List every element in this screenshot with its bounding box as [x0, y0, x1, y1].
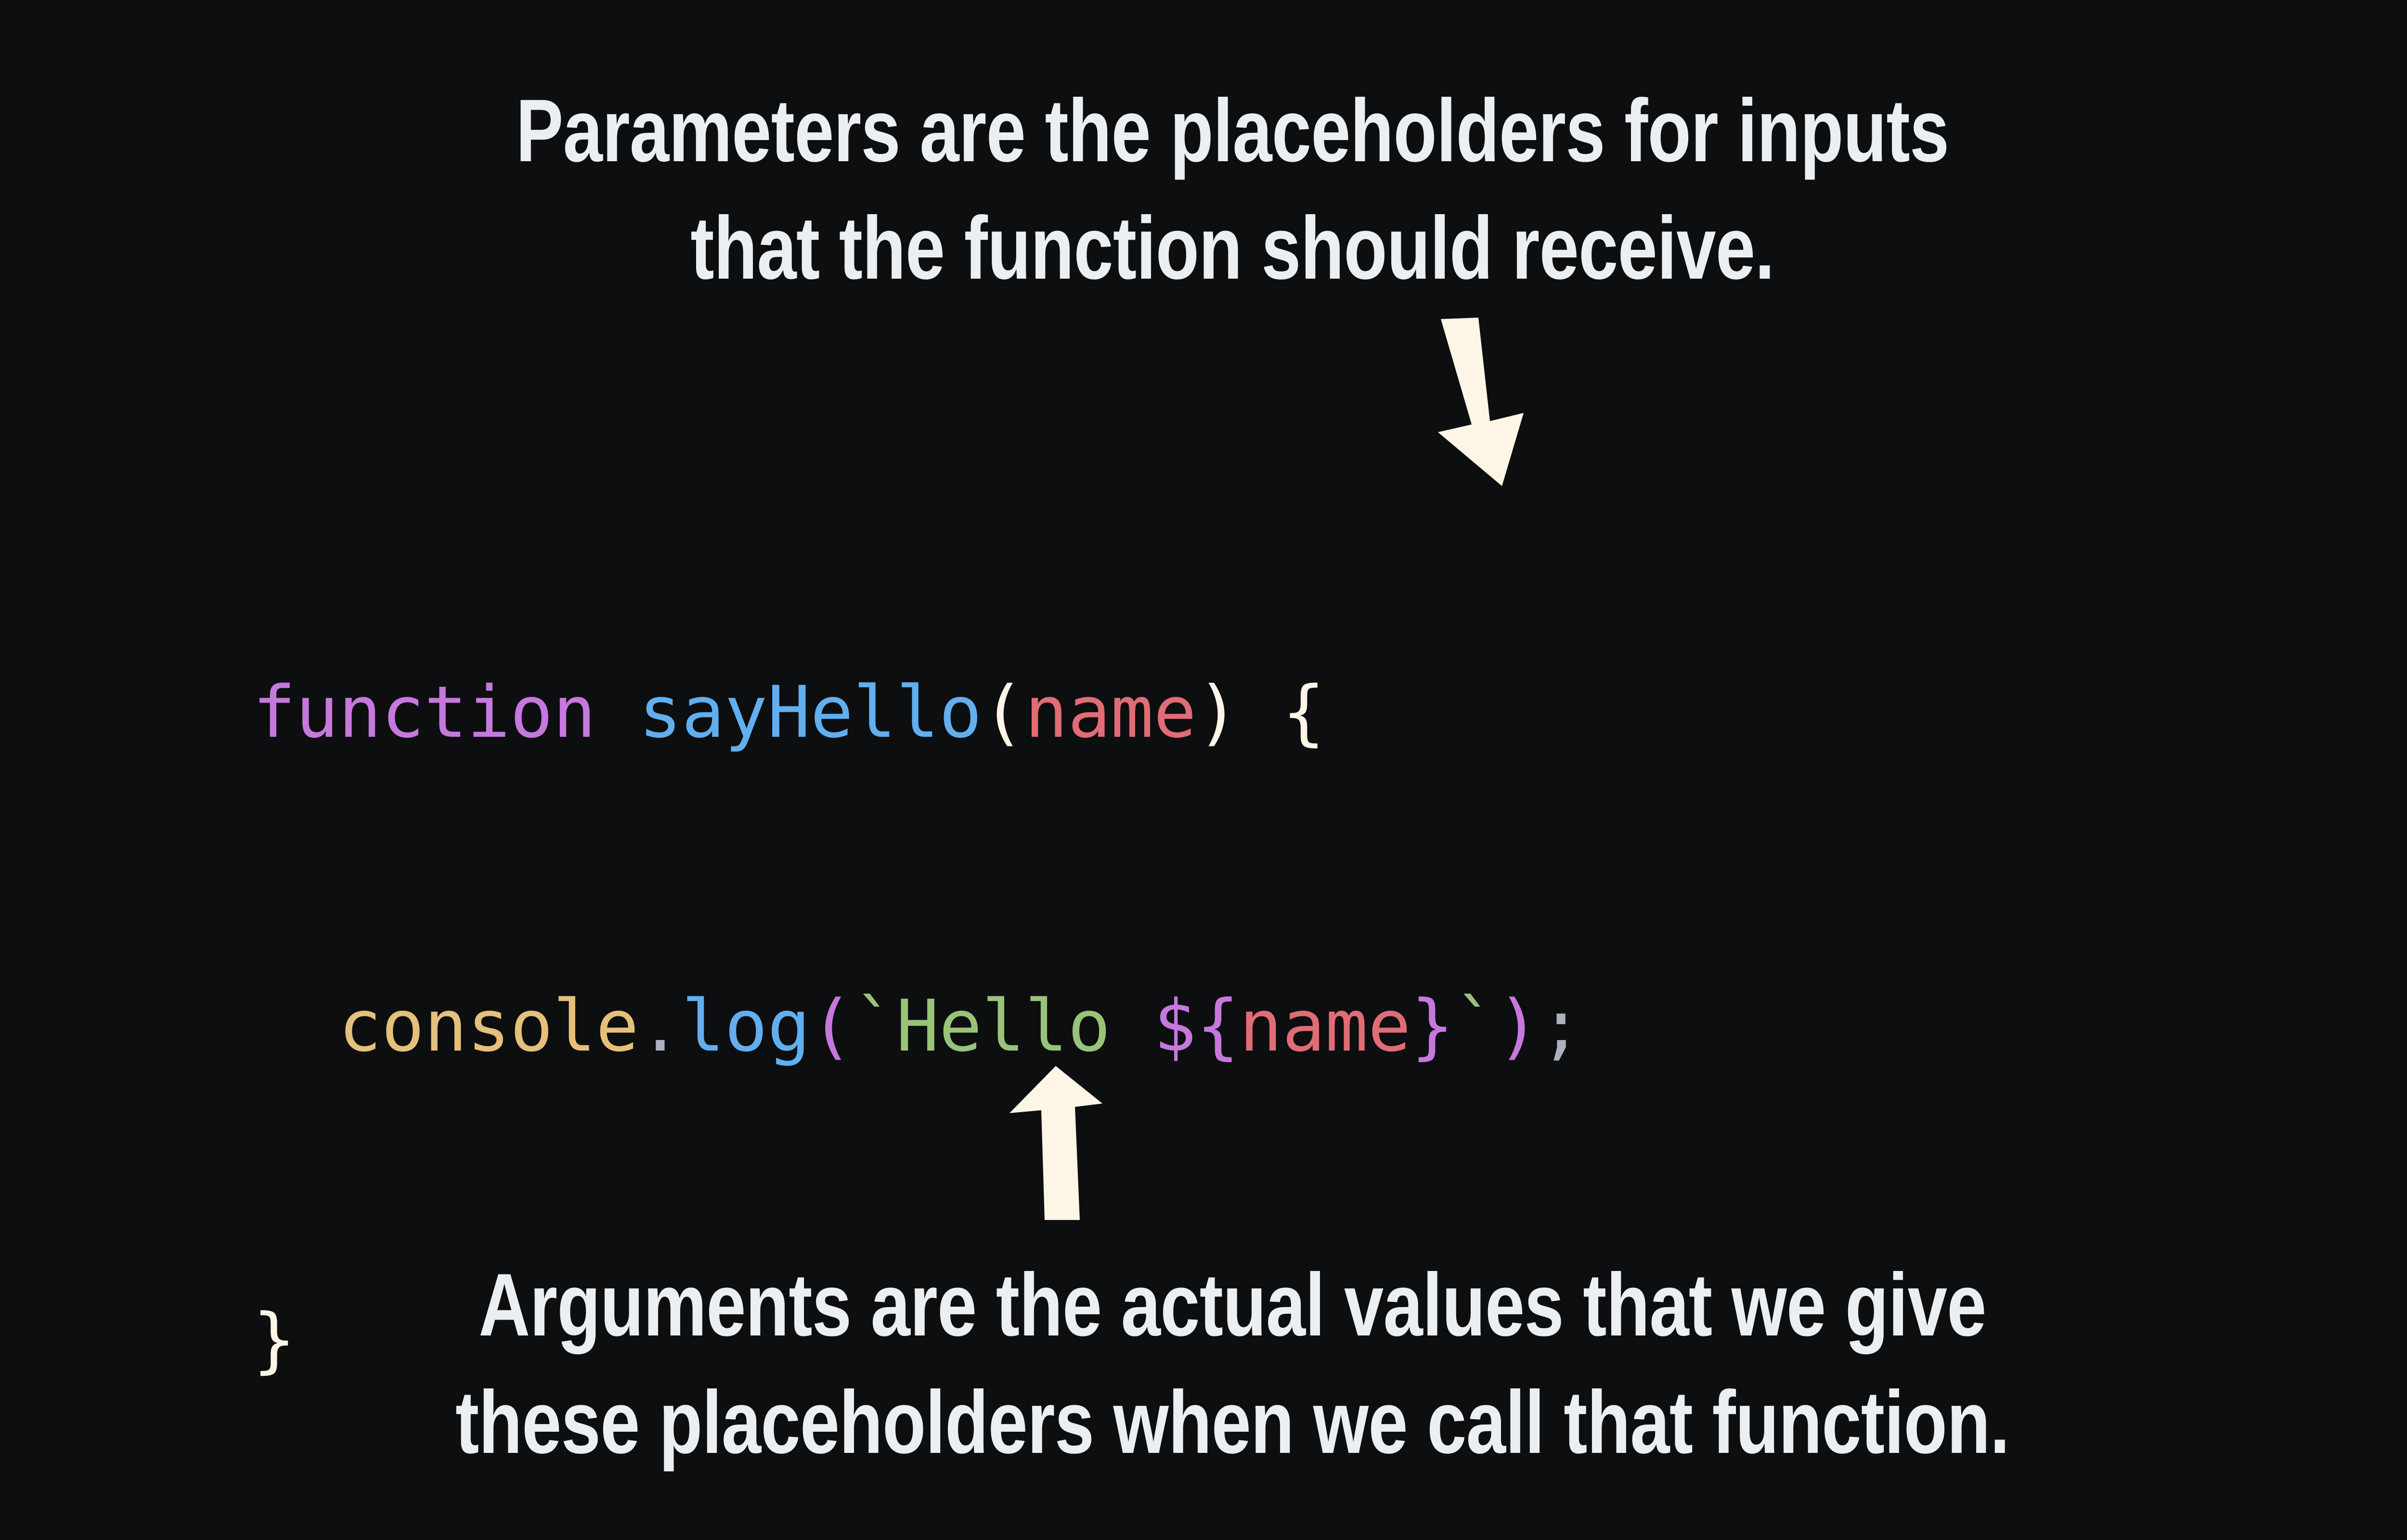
token-backtick-close: `	[1454, 985, 1497, 1067]
caption-arguments: Arguments are the actual values that we …	[246, 1246, 2218, 1481]
token-interpolation-open: ${	[1153, 985, 1239, 1067]
caption-parameters-line2: that the function should receive.	[246, 190, 2218, 307]
token-space	[1239, 671, 1282, 754]
token-interpolation-close: }	[1411, 985, 1454, 1067]
code-line-2: console.log(`Hello ${name}`);	[253, 987, 1582, 1065]
token-function-name: sayHello	[639, 671, 982, 754]
token-string-text: Hello	[896, 985, 1154, 1067]
token-keyword-function: function	[253, 671, 596, 754]
caption-arguments-line1: Arguments are the actual values that we …	[246, 1246, 2218, 1364]
token-interpolation-variable: name	[1239, 985, 1411, 1067]
token-close-paren: )	[1196, 671, 1239, 754]
token-semicolon: ;	[1540, 985, 1582, 1067]
token-open-paren: (	[810, 985, 853, 1067]
token-object-console: console	[338, 985, 639, 1067]
token-backtick-open: `	[853, 985, 896, 1067]
caption-parameters-line1: Parameters are the placeholders for inpu…	[246, 72, 2218, 190]
token-parameter-name: name	[1025, 671, 1196, 754]
token-indent	[253, 985, 338, 1067]
token-dot: .	[639, 985, 682, 1067]
token-close-paren: )	[1497, 985, 1540, 1067]
token-open-paren: (	[982, 671, 1025, 754]
token-method-log: log	[682, 985, 810, 1067]
code-line-1: function sayHello(name) {	[253, 673, 1582, 752]
slide-canvas: Parameters are the placeholders for inpu…	[0, 0, 2407, 1540]
arrow-up-icon	[999, 1066, 1119, 1220]
caption-parameters: Parameters are the placeholders for inpu…	[246, 72, 2218, 307]
caption-arguments-line2: these placeholders when we call that fun…	[246, 1364, 2218, 1481]
token-open-brace: {	[1282, 671, 1325, 754]
token-space	[596, 671, 639, 754]
